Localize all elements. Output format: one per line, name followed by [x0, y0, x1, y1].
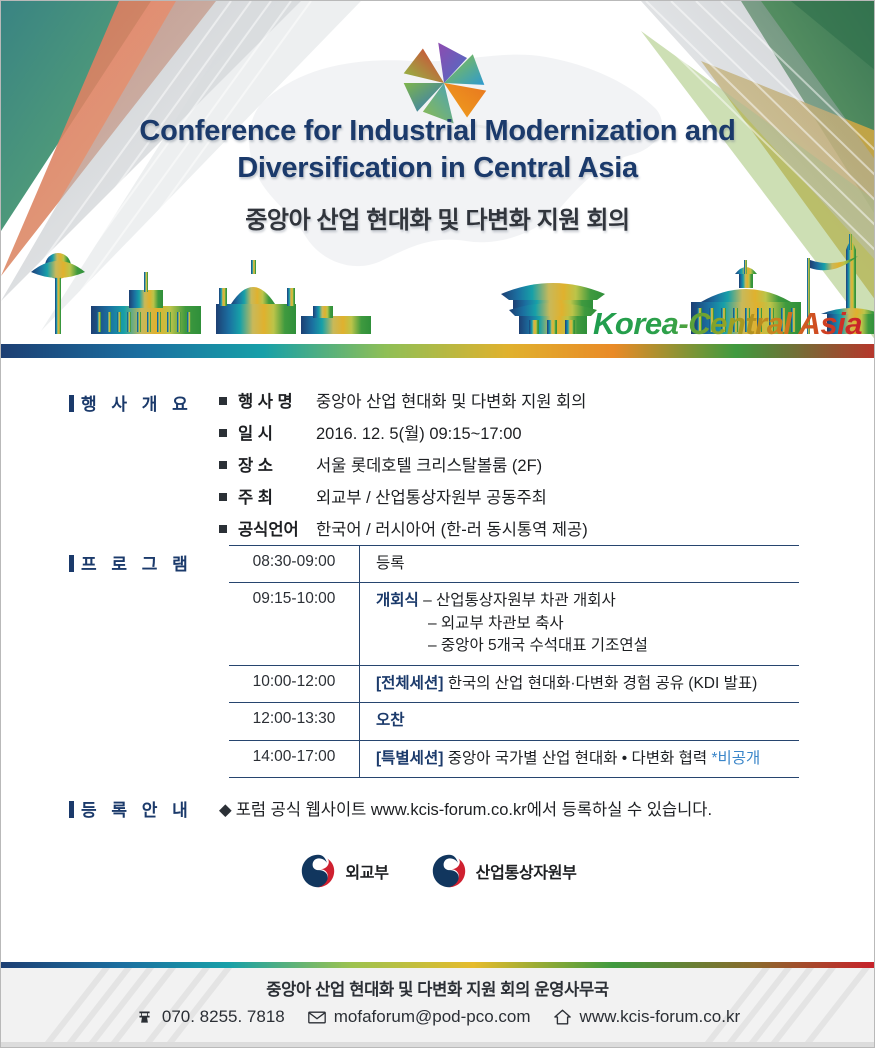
header-gradient-bar [1, 344, 875, 358]
overview-row: 일 시 2016. 12. 5(월) 09:15~17:00 [219, 420, 588, 444]
program-text: 한국의 산업 현대화·다변화 경험 공유 (KDI 발표) [448, 675, 758, 692]
overview-row-value: 서울 롯데호텔 크리스탈볼룸 (2F) [316, 452, 542, 476]
registration-section-label: 등 록 안 내 [69, 796, 193, 821]
table-row: 09:15-10:00 개회식 – 산업통상자원부 차관 개회사 – 외교부 차… [229, 583, 799, 665]
overview-list: 행 사 명 중앙아 산업 현대화 및 다변화 지원 회의 일 시 2016. 1… [219, 388, 588, 548]
program-tag: 오찬 [376, 712, 405, 729]
program-text: – 산업통상자원부 차관 개회사 [423, 592, 616, 609]
program-section-label: 프 로 그 램 [69, 550, 193, 575]
program-time: 12:00-13:30 [229, 703, 360, 740]
diamond-bullet-icon: ◆ [219, 801, 232, 819]
footer-email-text: mofaforum@pod-pco.com [334, 1007, 531, 1027]
program-description: [전체세션] 한국의 산업 현대화·다변화 경험 공유 (KDI 발표) [360, 665, 800, 702]
table-row: 08:30-09:00 등록 [229, 546, 799, 583]
overview-row-key: 행 사 명 [238, 388, 316, 412]
program-description: [특별세션] 중앙아 국가별 산업 현대화 • 다변화 협력 *비공개 [360, 740, 800, 777]
program-label-bar [69, 555, 74, 572]
overview-row-value: 한국어 / 러시아어 (한-러 동시통역 제공) [316, 516, 588, 540]
program-text: 등록 [376, 555, 405, 572]
program-time: 08:30-09:00 [229, 546, 360, 583]
table-row: 10:00-12:00 [전체세션] 한국의 산업 현대화·다변화 경험 공유 … [229, 665, 799, 702]
bullet-square-icon [219, 429, 227, 437]
program-description: 오찬 [360, 703, 800, 740]
program-tag: [전체세션] [376, 675, 443, 692]
poster-header: Conference for Industrial Modernization … [0, 0, 875, 358]
overview-row: 주 최 외교부 / 산업통상자원부 공동주최 [219, 484, 588, 508]
registration-text: ◆포럼 공식 웹사이트 www.kcis-forum.co.kr에서 등록하실 … [219, 796, 712, 820]
program-subitem: – 중앙아 5개국 수석대표 기조연설 [376, 635, 799, 657]
program-time: 14:00-17:00 [229, 740, 360, 777]
overview-row-value: 외교부 / 산업통상자원부 공동주최 [316, 484, 547, 508]
footer-phone: 070. 8255. 7818 [135, 1007, 285, 1027]
phone-icon [135, 1008, 155, 1026]
overview-label-text: 행 사 개 요 [81, 395, 193, 414]
bullet-square-icon [219, 493, 227, 501]
program-table: 08:30-09:00 등록 09:15-10:00 개회식 – 산업통상자원부… [229, 545, 799, 778]
program-tag: 개회식 [376, 592, 419, 609]
overview-row: 장 소 서울 롯데호텔 크리스탈볼룸 (2F) [219, 452, 588, 476]
program-tag: [특별세션] [376, 750, 443, 767]
program-description: 등록 [360, 546, 800, 583]
footer-content: 중앙아 산업 현대화 및 다변화 지원 회의 운영사무국 070. 8255. … [1, 962, 874, 1027]
overview-row-key: 주 최 [238, 484, 316, 508]
home-icon [553, 1008, 573, 1026]
envelope-icon [307, 1008, 327, 1026]
conference-poster: Conference for Industrial Modernization … [0, 0, 875, 1049]
overview-row-value: 2016. 12. 5(월) 09:15~17:00 [316, 420, 522, 444]
poster-body: 행 사 개 요 행 사 명 중앙아 산업 현대화 및 다변화 지원 회의 일 시… [0, 358, 875, 962]
program-time: 09:15-10:00 [229, 583, 360, 665]
table-row: 12:00-13:30 오찬 [229, 703, 799, 740]
program-note: *비공개 [711, 750, 760, 767]
footer-website-text: www.kcis-forum.co.kr [580, 1007, 741, 1027]
bullet-square-icon [219, 461, 227, 469]
poster-footer: 중앙아 산업 현대화 및 다변화 지원 회의 운영사무국 070. 8255. … [0, 962, 875, 1048]
brandmark-korea-central-asia: Korea-Central Asia [593, 306, 862, 342]
taegeuk-logo-icon [300, 853, 336, 889]
registration-label-bar [69, 801, 74, 818]
table-row: 14:00-17:00 [특별세션] 중앙아 국가별 산업 현대화 • 다변화 … [229, 740, 799, 777]
sponsor-logos: 외교부 산업통상자원부 [1, 853, 875, 889]
sponsor-name: 산업통상자원부 [476, 859, 577, 883]
sponsor-logo-motie: 산업통상자원부 [431, 853, 577, 889]
sponsor-name: 외교부 [345, 859, 388, 883]
footer-contacts: 070. 8255. 7818 mofaforum@pod-pco.com ww… [1, 1007, 874, 1027]
bullet-square-icon [219, 397, 227, 405]
program-subitem: – 외교부 차관보 축사 [376, 613, 799, 635]
registration-message: 포럼 공식 웹사이트 www.kcis-forum.co.kr에서 등록하실 수… [236, 801, 712, 819]
overview-row-value: 중앙아 산업 현대화 및 다변화 지원 회의 [316, 388, 586, 412]
program-description: 개회식 – 산업통상자원부 차관 개회사 – 외교부 차관보 축사 – 중앙아 … [360, 583, 800, 665]
footer-gradient-bar [1, 962, 875, 968]
sponsor-logo-mofa: 외교부 [300, 853, 388, 889]
footer-email: mofaforum@pod-pco.com [307, 1007, 531, 1027]
program-time: 10:00-12:00 [229, 665, 360, 702]
overview-label-bar [69, 395, 74, 412]
overview-row: 행 사 명 중앙아 산업 현대화 및 다변화 지원 회의 [219, 388, 588, 412]
title-korean: 중앙아 산업 현대화 및 다변화 지원 회의 [1, 200, 874, 235]
overview-section-label: 행 사 개 요 [69, 390, 193, 415]
taegeuk-logo-icon [431, 853, 467, 889]
program-label-text: 프 로 그 램 [81, 555, 193, 574]
overview-row-key: 장 소 [238, 452, 316, 476]
overview-row-key: 일 시 [238, 420, 316, 444]
footer-website: www.kcis-forum.co.kr [553, 1007, 741, 1027]
overview-row: 공식언어 한국어 / 러시아어 (한-러 동시통역 제공) [219, 516, 588, 540]
overview-row-key: 공식언어 [238, 516, 316, 540]
program-text: 중앙아 국가별 산업 현대화 • 다변화 협력 [448, 750, 707, 767]
footer-phone-text: 070. 8255. 7818 [162, 1007, 285, 1027]
title-block: Conference for Industrial Modernization … [1, 113, 874, 235]
registration-label-text: 등 록 안 내 [81, 801, 193, 820]
title-english-line2: Diversification in Central Asia [1, 150, 874, 187]
bullet-square-icon [219, 525, 227, 533]
footer-title: 중앙아 산업 현대화 및 다변화 지원 회의 운영사무국 [1, 976, 874, 1000]
title-english-line1: Conference for Industrial Modernization … [1, 113, 874, 150]
